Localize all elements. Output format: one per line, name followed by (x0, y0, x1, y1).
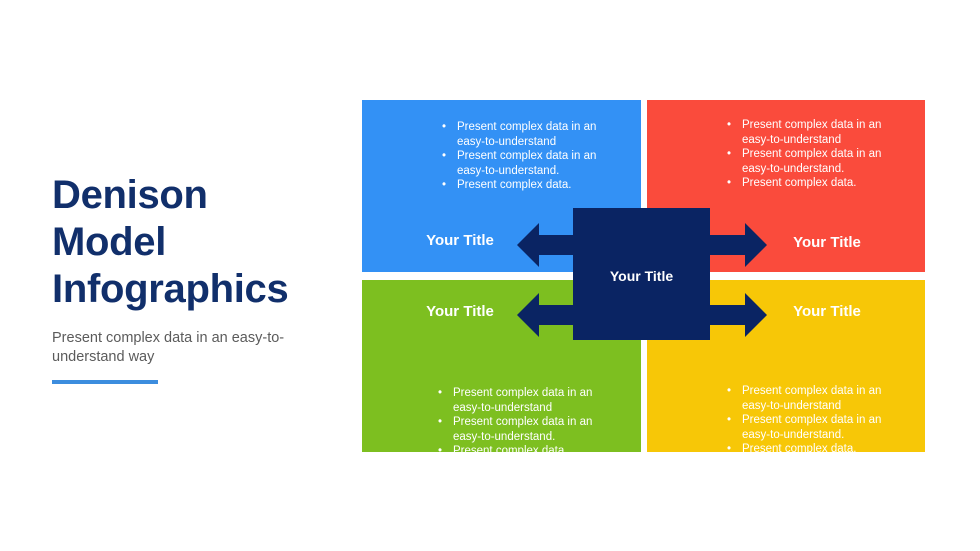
center-hub-title: Your Title (573, 268, 710, 284)
list-item: •Present complex data. (420, 444, 620, 459)
list-item: •Present complex data in an easy-to-unde… (709, 118, 909, 147)
bullet-text: Present complex data in an easy-to-under… (453, 387, 592, 414)
slide-canvas: Denison Model Infographics Present compl… (0, 0, 980, 551)
list-item: •Present complex data in an easy-to-unde… (420, 386, 620, 415)
list-item: •Present complex data. (424, 178, 624, 193)
bullet-dot-icon: • (438, 415, 442, 430)
list-item: •Present complex data in an easy-to-unde… (709, 147, 909, 176)
bullet-text: Present complex data in an easy-to-under… (742, 414, 881, 441)
list-item: •Present complex data in an easy-to-unde… (420, 415, 620, 444)
bullet-text: Present complex data. (457, 179, 571, 191)
list-item: •Present complex data in an easy-to-unde… (709, 413, 909, 442)
bullet-dot-icon: • (727, 118, 731, 133)
bullet-dot-icon: • (438, 444, 442, 459)
page-title-line-3: Infographics (52, 267, 288, 311)
list-item: •Present complex data in an easy-to-unde… (424, 120, 624, 149)
bullet-list-bottom-right: •Present complex data in an easy-to-unde… (709, 384, 909, 457)
bullet-text: Present complex data in an easy-to-under… (742, 119, 881, 146)
list-item: •Present complex data in an easy-to-unde… (709, 384, 909, 413)
bullet-dot-icon: • (442, 120, 446, 135)
left-text-block: Denison Model Infographics Present compl… (52, 172, 342, 367)
bullet-text: Present complex data in an easy-to-under… (742, 385, 881, 412)
bullet-text: Present complex data. (742, 177, 856, 189)
bullet-text: Present complex data. (453, 445, 567, 457)
arrow-left-icon (517, 292, 577, 338)
list-item: •Present complex data in an easy-to-unde… (424, 149, 624, 178)
page-subtitle: Present complex data in an easy-to-under… (52, 329, 312, 367)
bullet-dot-icon: • (727, 413, 731, 428)
list-item: •Present complex data. (709, 442, 909, 457)
arrow-right-icon (707, 292, 767, 338)
bullet-dot-icon: • (442, 178, 446, 193)
bullet-text: Present complex data in an easy-to-under… (453, 416, 592, 443)
bullet-text: Present complex data. (742, 443, 856, 455)
center-hub-group: Your Title (517, 208, 771, 340)
accent-underline-bar (52, 380, 158, 384)
bullet-text: Present complex data in an easy-to-under… (457, 150, 596, 177)
arrow-right-icon (707, 222, 767, 268)
page-title-line-2: Model (52, 220, 166, 264)
bullet-list-bottom-left: •Present complex data in an easy-to-unde… (420, 386, 620, 459)
page-title: Denison Model Infographics (52, 172, 342, 313)
bullet-dot-icon: • (727, 147, 731, 162)
bullet-dot-icon: • (727, 176, 731, 191)
bullet-text: Present complex data in an easy-to-under… (742, 148, 881, 175)
bullet-dot-icon: • (442, 149, 446, 164)
bullet-dot-icon: • (727, 384, 731, 399)
bullet-text: Present complex data in an easy-to-under… (457, 121, 596, 148)
page-title-line-1: Denison (52, 173, 208, 217)
bullet-dot-icon: • (438, 386, 442, 401)
bullet-list-top-left: •Present complex data in an easy-to-unde… (424, 120, 624, 193)
bullet-dot-icon: • (727, 442, 731, 457)
list-item: •Present complex data. (709, 176, 909, 191)
bullet-list-top-right: •Present complex data in an easy-to-unde… (709, 118, 909, 191)
arrow-left-icon (517, 222, 577, 268)
